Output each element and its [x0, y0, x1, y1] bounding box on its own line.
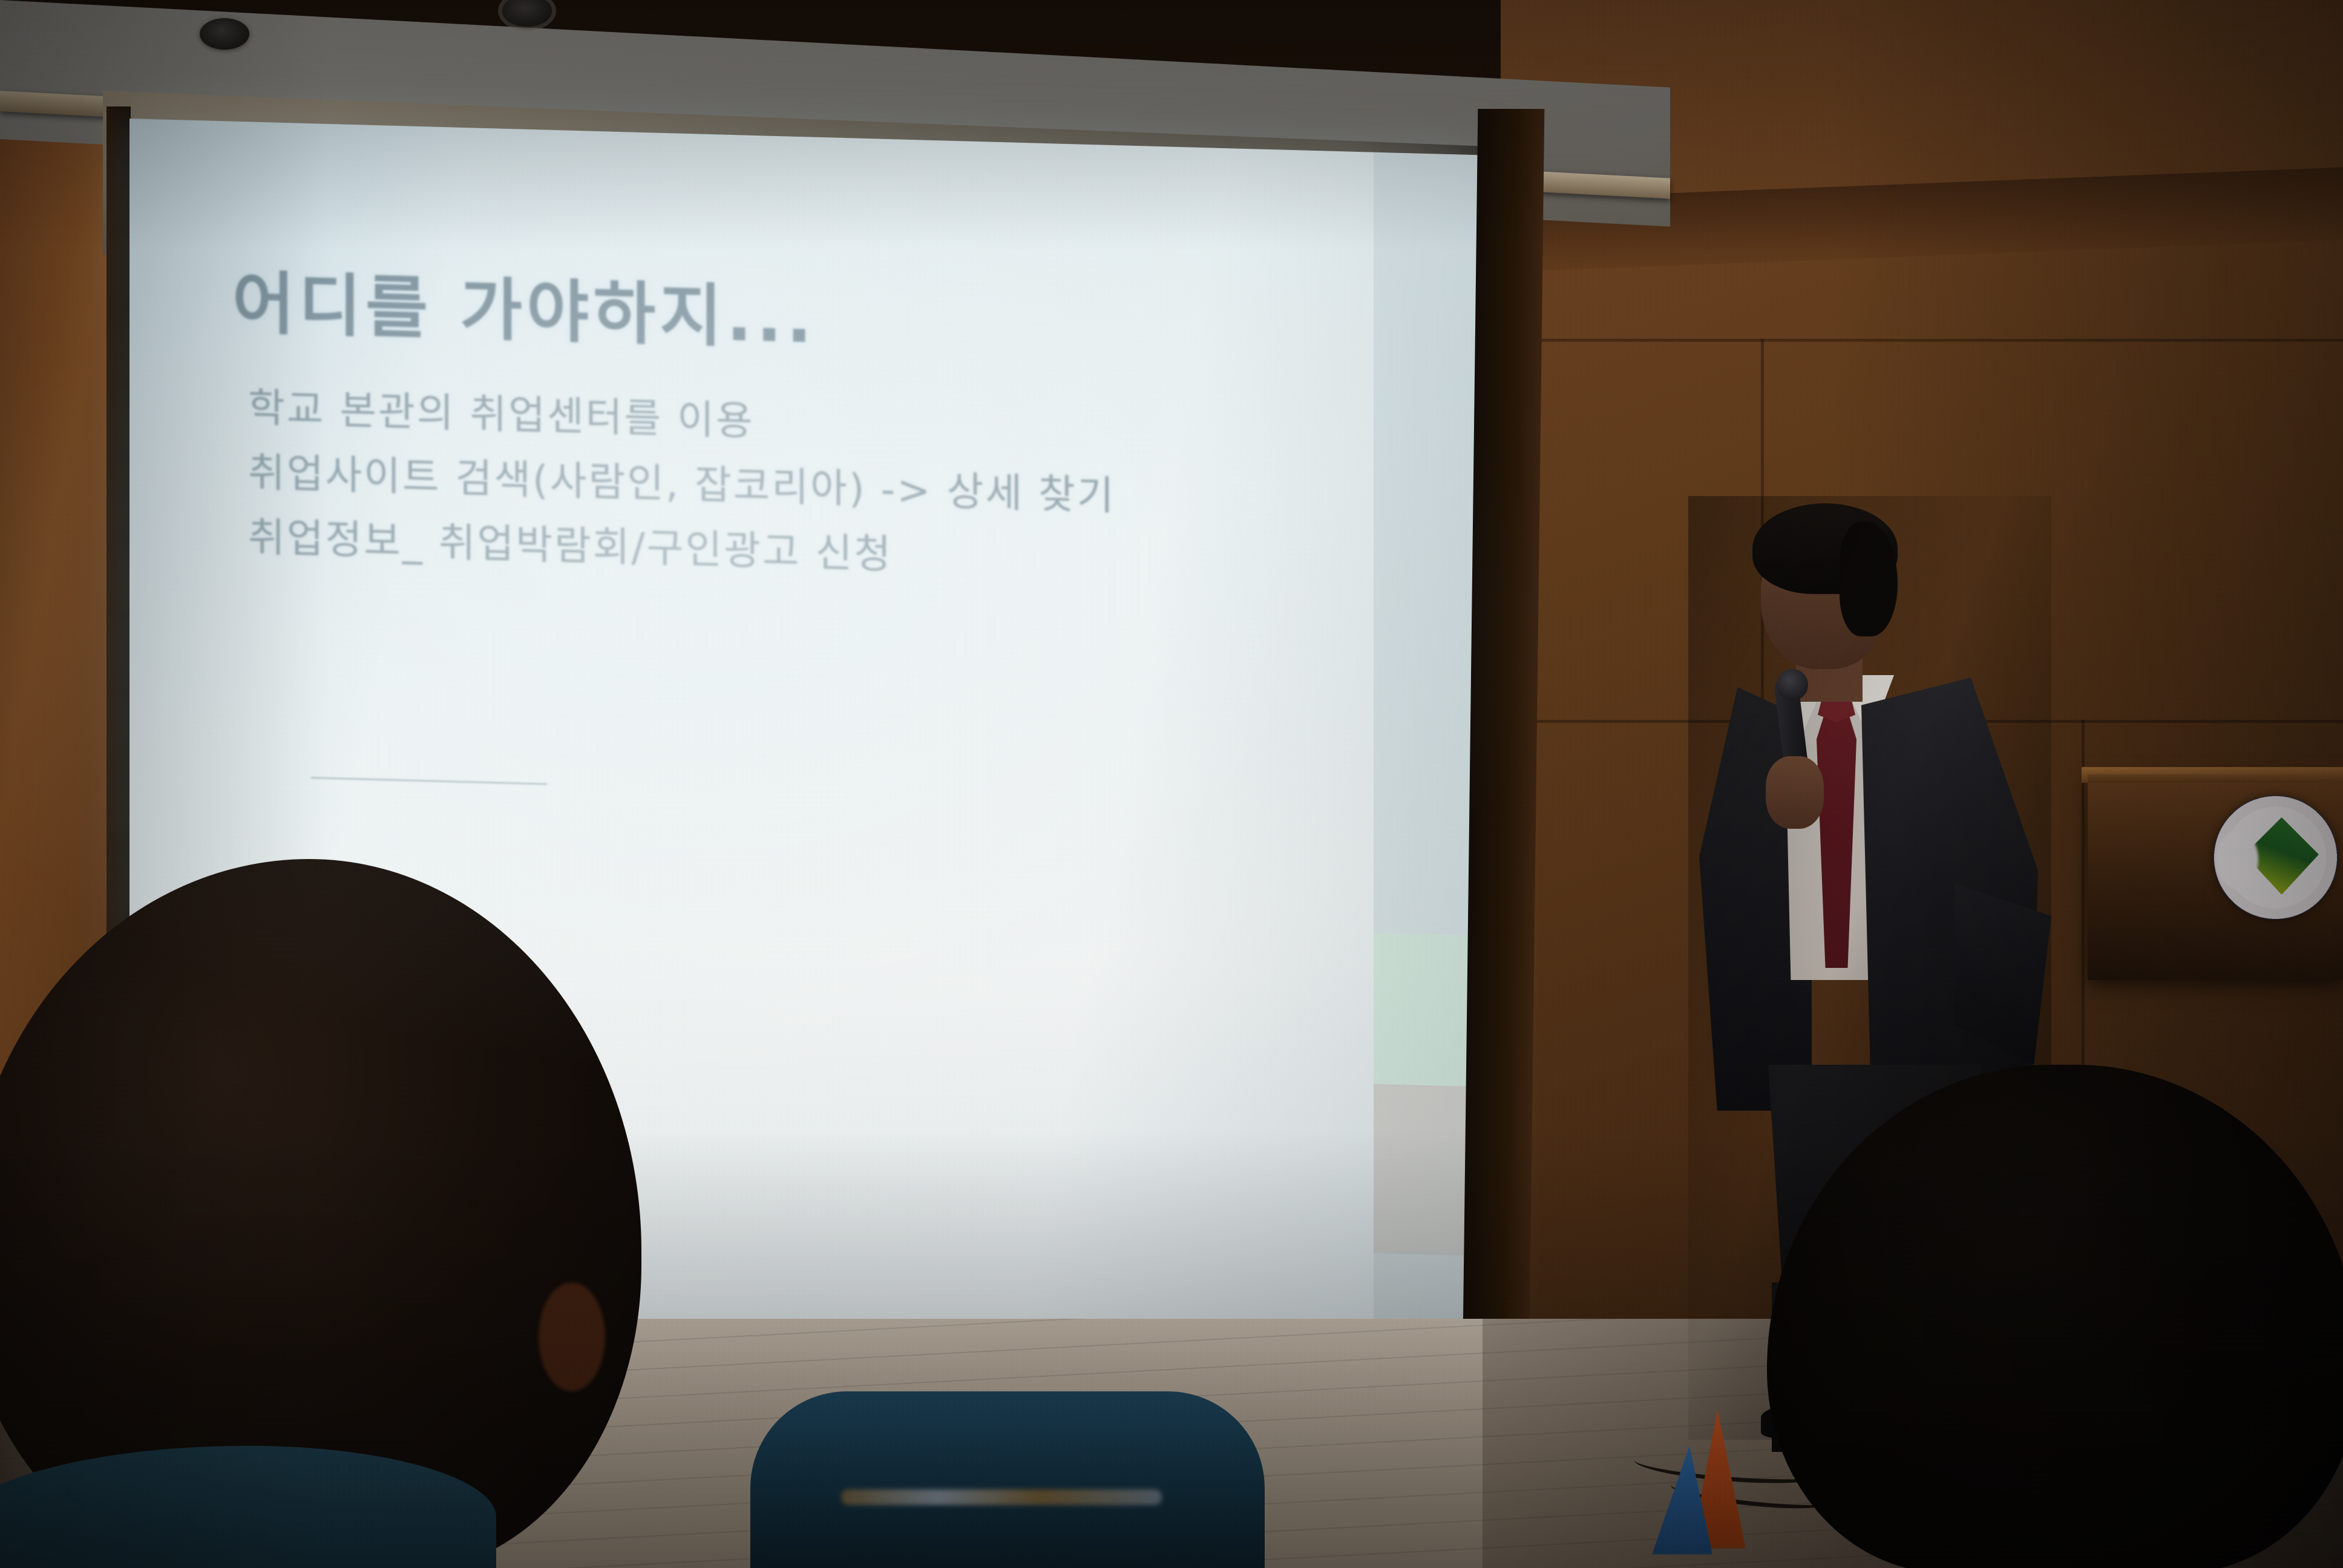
slide-footnote-line [311, 794, 565, 801]
ceiling-downlight-icon [502, 0, 552, 27]
slide-footnote-line [311, 794, 565, 801]
lecture-hall-scene: 어디를 가야하지... 학교 본관의 취업센터를 이용 취업사이트 검색(사람인… [0, 0, 2343, 1568]
presenter-hand [1766, 756, 1824, 829]
audience-member-ear [539, 1282, 605, 1391]
audience-chair [750, 1391, 1265, 1568]
microphone-capsule-icon [1777, 669, 1808, 701]
slide-footnote-block [311, 777, 565, 801]
institution-emblem-icon [2214, 795, 2338, 920]
audience-chair-glint [841, 1489, 1162, 1505]
slide-body: 학교 본관의 취업센터를 이용 취업사이트 검색(사람인, 잡코리아) -> 상… [248, 376, 1398, 601]
slide-title: 어디를 가야하지... [232, 249, 816, 362]
ceiling-downlight-icon [200, 18, 249, 50]
slide-footnote-rule [311, 777, 547, 785]
emblem-notch-shape [2216, 831, 2258, 889]
slide-footnote-line [311, 794, 565, 801]
